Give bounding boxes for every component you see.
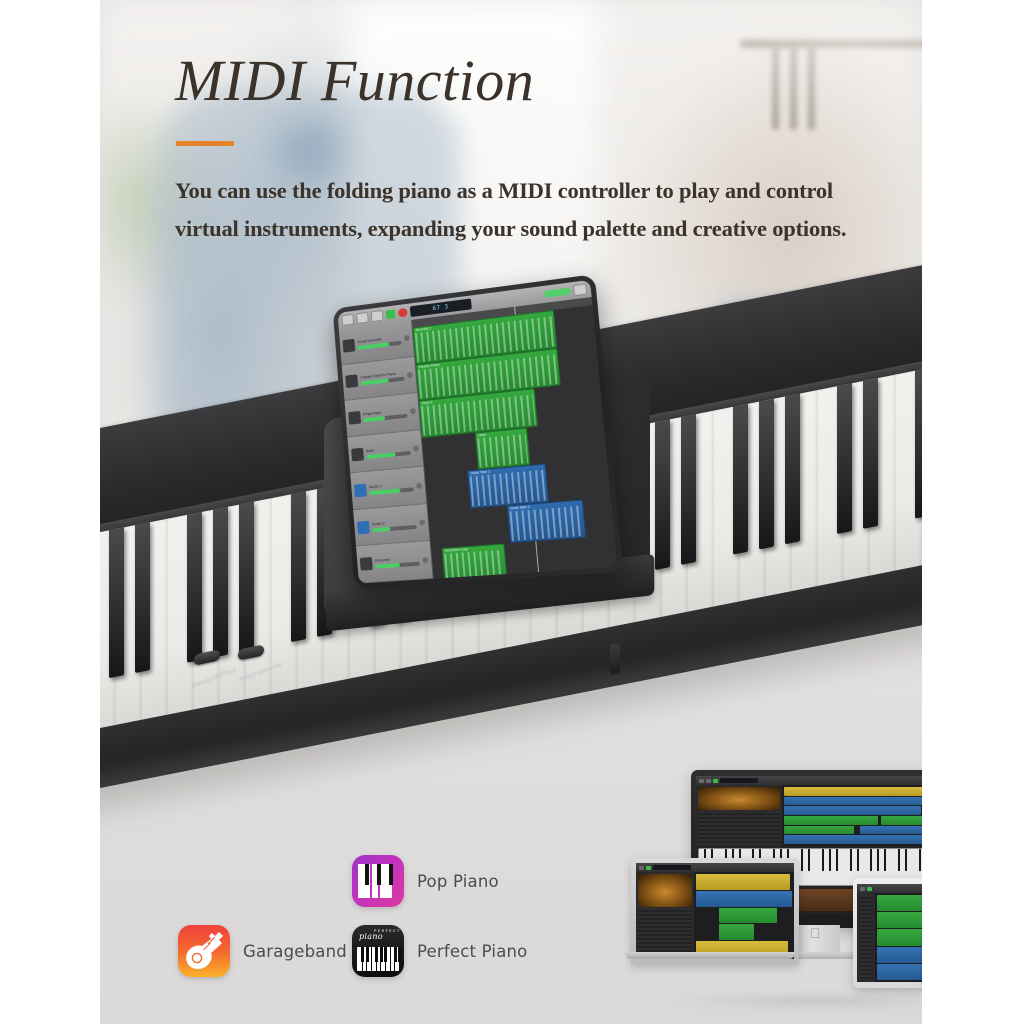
track-info: Smart Acoustic — [357, 334, 401, 350]
track-info: Audio 1 — [369, 481, 414, 496]
daw-lcd — [720, 778, 758, 783]
daw-btn — [706, 779, 711, 783]
device-showcase:  — [625, 770, 922, 1005]
keyboard-black-key — [898, 849, 900, 871]
audio-clip — [696, 874, 790, 890]
midi-clip — [877, 912, 922, 928]
daw-play-btn — [713, 779, 718, 783]
app-item-pop-piano[interactable]: Pop Piano — [352, 855, 499, 907]
daw-lane — [877, 947, 922, 963]
audio-clip — [877, 947, 922, 963]
track-info: Drummer — [375, 555, 420, 569]
daw-body — [636, 872, 794, 959]
daw-lane — [696, 874, 792, 890]
macbook-bezel — [631, 858, 799, 964]
region-waveform — [477, 433, 528, 467]
audio-clip — [860, 826, 922, 835]
daw-lane — [696, 924, 792, 940]
piano-black-key[interactable] — [655, 419, 670, 570]
acoustic-guitar-icon — [342, 339, 355, 353]
page-description: You can use the folding piano as a MIDI … — [175, 172, 875, 248]
track-header[interactable]: Audio 2 — [353, 504, 429, 547]
track-pan-knob[interactable] — [404, 335, 410, 342]
daw-lane — [784, 787, 922, 796]
patch-list — [638, 908, 692, 957]
track-info: Classic Electric Piano — [360, 370, 405, 386]
keyboard-black-key — [808, 849, 810, 871]
macbook-screen — [636, 863, 794, 959]
daw-play-btn — [646, 866, 651, 870]
midi-clip — [719, 908, 777, 924]
track-pan-knob[interactable] — [410, 408, 416, 414]
play-button[interactable] — [386, 309, 396, 319]
instrument-artwork — [638, 874, 692, 907]
track-pan-knob[interactable] — [422, 557, 428, 563]
keyboard-black-key — [905, 849, 907, 871]
piano-black-key[interactable] — [681, 414, 696, 565]
daw-lane — [877, 912, 922, 928]
daw-toolbar — [636, 863, 794, 872]
record-button[interactable] — [398, 308, 408, 318]
daw-window-ipad — [857, 884, 922, 982]
background-utensil-rail — [740, 40, 922, 48]
garageband-workspace: Smart AcousticClassic Electric PianoFing… — [339, 297, 617, 584]
track-info: Audio 2 — [372, 518, 417, 532]
app-label-pop-piano: Pop Piano — [417, 872, 499, 891]
midi-clip — [784, 816, 878, 825]
piano-black-key[interactable] — [109, 527, 124, 678]
region-waveform — [444, 550, 506, 579]
app-label-garageband: Garageband — [243, 942, 347, 961]
macbook-base — [625, 952, 795, 959]
audio-region[interactable]: Vocal Take 2 — [506, 499, 586, 543]
midi-region[interactable]: Drummer Loop — [442, 544, 508, 579]
loop-icon[interactable] — [371, 310, 384, 322]
ipad-device — [853, 878, 922, 988]
daw-lane — [877, 929, 922, 945]
keyboard-black-key — [870, 849, 872, 871]
daw-arrange — [875, 893, 922, 982]
drums-icon — [360, 557, 373, 571]
page-title: MIDI Function — [175, 52, 534, 110]
pop-piano-icon — [352, 855, 404, 907]
guitar-glyph-icon — [178, 925, 230, 977]
piano-black-key[interactable] — [915, 368, 922, 519]
track-volume-slider[interactable] — [372, 525, 417, 532]
arrange-area[interactable]: Acoustic 1Electric PianoKeys 3LeadVocal … — [412, 297, 617, 579]
app-label-perfect-piano: Perfect Piano — [417, 942, 527, 961]
perfect-piano-script-text: piano — [359, 932, 383, 941]
daw-btn — [699, 779, 704, 783]
patch-list — [859, 895, 873, 980]
icon-key-divider — [380, 947, 381, 971]
icon-key-divider — [362, 947, 363, 971]
audio-wave-icon — [357, 520, 370, 534]
track-info: Bass — [366, 444, 411, 459]
icon-key-divider — [366, 947, 367, 971]
piano-icon — [345, 375, 358, 389]
daw-lane — [696, 908, 792, 924]
audio-clip — [877, 964, 922, 980]
daw-lane — [877, 964, 922, 980]
background-utensil-icon — [772, 46, 779, 130]
daw-lane — [784, 835, 922, 844]
midi-clip — [719, 924, 754, 940]
daw-lane — [784, 797, 922, 806]
audio-clip — [784, 787, 922, 796]
daw-lane — [784, 816, 922, 825]
apple-logo-icon:  — [810, 926, 821, 940]
app-item-garageband[interactable]: Garageband — [178, 925, 347, 977]
keyboard-black-key — [829, 849, 831, 871]
icon-key-divider — [376, 947, 377, 971]
tablet-device[interactable]: 67 3 Smart AcousticClassic Electric Pian… — [333, 274, 623, 589]
daw-play-btn — [867, 887, 872, 891]
piano-black-key[interactable] — [135, 522, 150, 673]
daw-body — [857, 893, 922, 982]
bass-icon — [351, 447, 364, 461]
keyboard-black-key — [884, 849, 886, 871]
piano-black-key[interactable] — [733, 404, 748, 555]
midi-clip — [877, 895, 922, 911]
daw-library — [696, 785, 782, 846]
daw-lane — [877, 895, 922, 911]
daw-toolbar — [857, 884, 922, 893]
track-header[interactable]: Audio 1 — [350, 467, 426, 510]
audio-clip — [784, 797, 922, 806]
toolbar-spacer — [474, 295, 541, 304]
daw-window-macbook — [636, 863, 794, 959]
perfect-piano-keys — [357, 947, 399, 971]
track-pan-knob[interactable] — [416, 482, 422, 488]
ipad-bezel — [853, 878, 922, 988]
daw-body — [696, 785, 922, 846]
background-utensil-icon — [790, 46, 797, 130]
icon-key-divider — [371, 947, 372, 971]
daw-lane — [784, 826, 922, 835]
undo-icon[interactable] — [341, 314, 354, 326]
keyboard-black-key — [822, 849, 824, 871]
midi-clip — [881, 816, 922, 825]
midi-clip — [784, 826, 854, 835]
pop-piano-keys — [358, 864, 398, 898]
garageband-icon — [178, 925, 230, 977]
piano-black-key[interactable] — [863, 378, 878, 529]
piano-black-key[interactable] — [213, 507, 228, 658]
keyboard-black-key — [801, 849, 803, 871]
marketing-banner: Record/Play Metronome 67 3 — [0, 0, 1024, 1024]
audio-clip — [696, 891, 792, 907]
app-item-perfect-piano[interactable]: PERFECT piano Perfect Piano — [352, 925, 527, 977]
master-volume-slider[interactable] — [544, 287, 571, 297]
keyboard-black-key — [836, 849, 838, 871]
audio-clip — [784, 835, 922, 844]
track-info: Fingerstyle — [363, 407, 408, 422]
track-pan-knob[interactable] — [419, 519, 425, 525]
patch-list — [698, 811, 780, 844]
view-toggle-icon[interactable] — [356, 312, 369, 324]
track-header[interactable]: Drummer — [356, 541, 433, 583]
daw-arrange — [782, 785, 922, 846]
piano-black-key[interactable] — [785, 393, 800, 544]
piano-black-key[interactable] — [239, 502, 254, 653]
background-utensil-icon — [808, 46, 815, 130]
tablet-screen[interactable]: 67 3 Smart AcousticClassic Electric Pian… — [338, 280, 618, 584]
keyboard-black-key — [877, 849, 879, 871]
audio-region[interactable]: Vocal Take 1 — [467, 464, 549, 509]
daw-btn — [860, 887, 865, 891]
daw-lane — [784, 806, 922, 815]
daw-lane — [696, 891, 792, 907]
track-volume-slider[interactable] — [375, 562, 420, 569]
daw-track-headers — [857, 893, 875, 982]
track-pan-knob[interactable] — [413, 445, 419, 451]
piano-fold-hinge — [610, 643, 620, 675]
piano-black-key[interactable] — [187, 512, 202, 663]
ipad-screen — [857, 884, 922, 982]
region-waveform — [509, 506, 584, 542]
midi-region[interactable]: Lead — [475, 427, 531, 470]
audio-clip — [784, 806, 921, 815]
audio-wave-icon — [354, 484, 367, 498]
icon-key-divider — [394, 947, 395, 971]
midi-clip — [877, 929, 922, 945]
daw-library — [636, 872, 694, 959]
settings-icon[interactable] — [573, 283, 587, 296]
daw-arrange — [694, 872, 794, 959]
title-underline — [176, 141, 234, 146]
macbook-device — [625, 858, 795, 968]
daw-btn — [639, 866, 644, 870]
icon-key-divider — [390, 947, 391, 971]
piano-black-key[interactable] — [759, 399, 774, 550]
icon-key-divider — [385, 947, 386, 971]
daw-lcd — [653, 865, 691, 870]
perfect-piano-icon: PERFECT piano — [352, 925, 404, 977]
keyboard-black-key — [919, 849, 921, 871]
guitar-icon — [348, 411, 361, 425]
keyboard-black-key — [850, 849, 852, 871]
piano-black-key[interactable] — [291, 491, 306, 642]
instrument-artwork — [698, 787, 780, 810]
region-waveform — [470, 470, 547, 506]
icon-black-key — [398, 947, 401, 962]
piano-black-key[interactable] — [837, 383, 852, 534]
daw-toolbar — [696, 776, 922, 785]
product-photo: Record/Play Metronome 67 3 — [100, 0, 922, 1024]
keyboard-black-key — [857, 849, 859, 871]
track-pan-knob[interactable] — [407, 372, 413, 378]
